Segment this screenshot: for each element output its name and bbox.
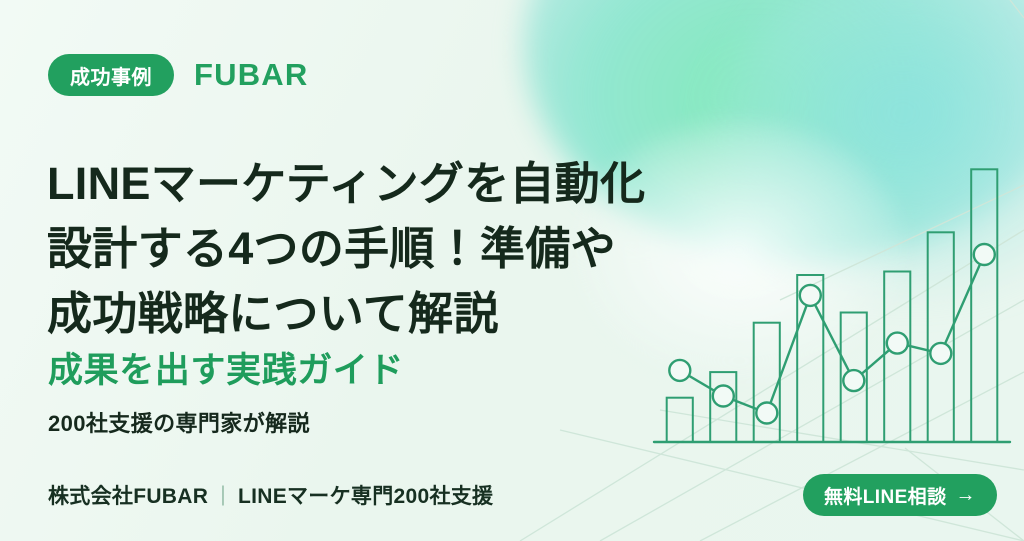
headline-line-3: 成功戦略について解説 [47,281,787,346]
headline-line-1: LINEマーケティングを自動化 [47,151,787,216]
brand-name: FUBAR [194,57,309,93]
arrow-right-icon: → [955,485,975,505]
footer-separator: | [220,483,226,507]
cta-label: 無料LINE相談 [824,482,946,509]
footer-tagline: LINEマーケ専門200社支援 [238,480,493,510]
promo-banner: 成功事例 FUBAR LINEマーケティングを自動化 設計する4つの手順！準備や… [0,0,1024,541]
case-study-badge: 成功事例 [48,54,174,96]
headline-line-2: 設計する4つの手順！準備や [47,216,787,281]
subtitle: 成果を出す実践ガイド [48,342,404,393]
free-line-consultation-button[interactable]: 無料LINE相談 → [803,474,997,516]
footer-company: 株式会社FUBAR [48,480,208,510]
page-title: LINEマーケティングを自動化 設計する4つの手順！準備や 成功戦略について解説 [47,151,787,346]
footer-credit: 株式会社FUBAR | LINEマーケ専門200社支援 [48,480,493,510]
kicker-text: 200社支援の専門家が解説 [48,406,310,438]
header-row: 成功事例 FUBAR [48,54,309,96]
